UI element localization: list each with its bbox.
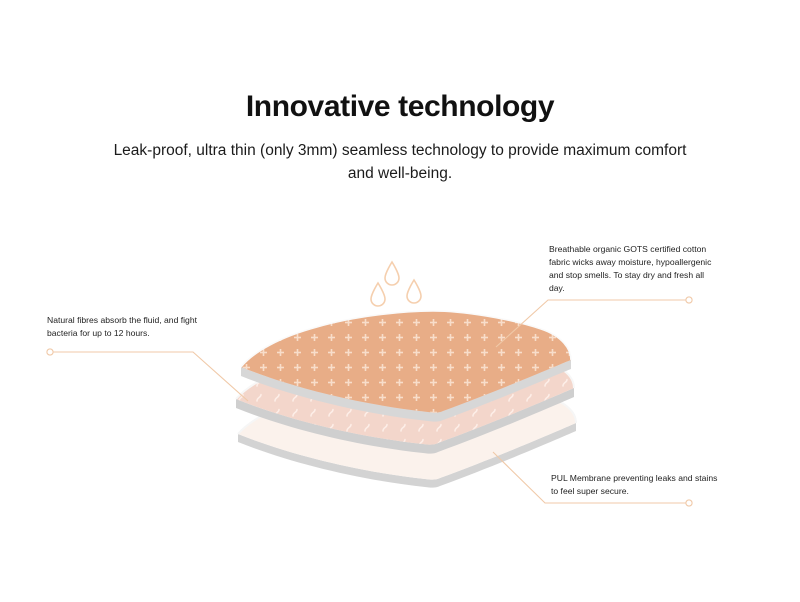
water-droplet-icon <box>407 280 421 303</box>
water-droplet-icon <box>371 283 385 306</box>
connector-line-left <box>47 349 248 401</box>
annotation-pul-membrane: PUL Membrane preventing leaks and stains… <box>551 472 721 498</box>
annotation-breathable-cotton: Breathable organic GOTS certified cotton… <box>549 243 714 295</box>
page-root: Innovative technology Leak-proof, ultra … <box>0 0 800 602</box>
connector-endpoint-dot <box>47 349 53 355</box>
water-droplets-group <box>371 262 421 306</box>
connector-endpoint-dot <box>686 297 692 303</box>
connector-endpoint-dot <box>686 500 692 506</box>
water-droplet-icon <box>385 262 399 285</box>
annotation-natural-fibres: Natural fibres absorb the fluid, and fig… <box>47 314 222 340</box>
layer-diagram-illustration <box>0 0 800 602</box>
